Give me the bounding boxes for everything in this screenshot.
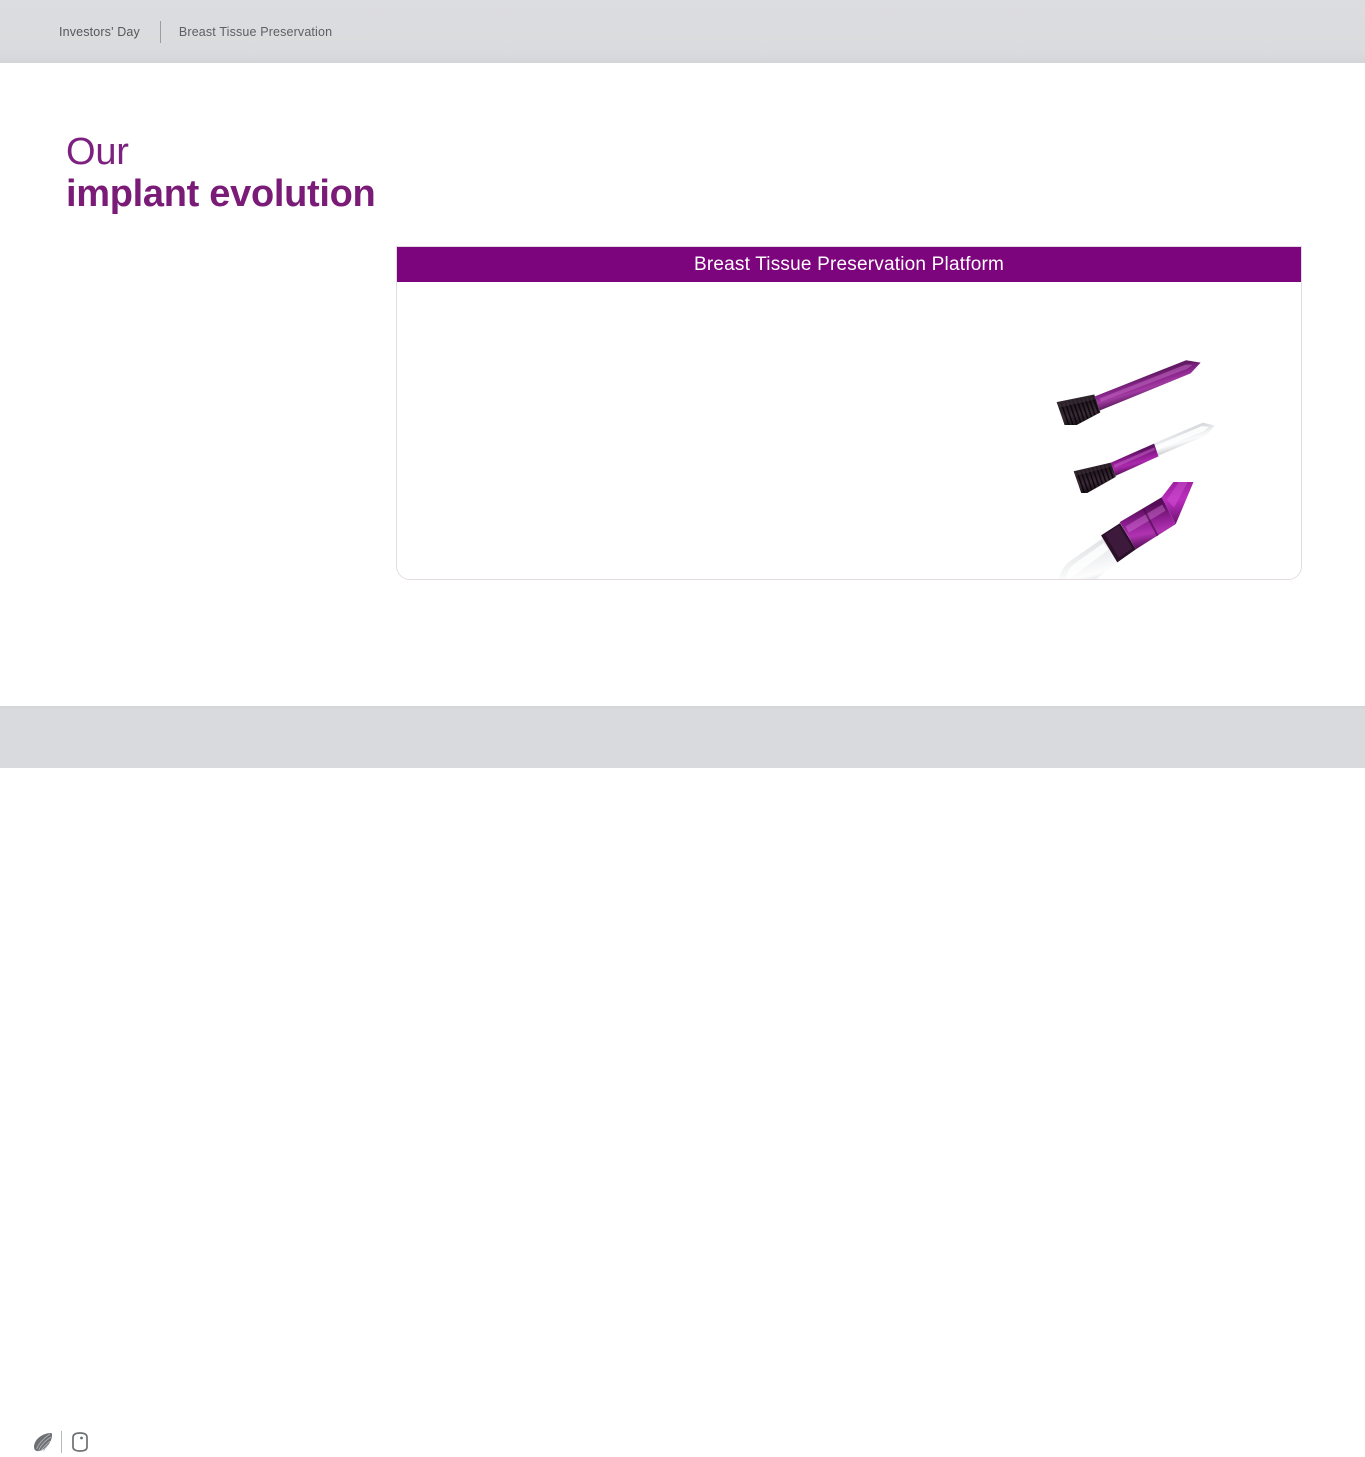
platform-panel-title: Breast Tissue Preservation Platform (694, 254, 1004, 276)
platform-panel: Breast Tissue Preservation Platform (396, 246, 1302, 580)
page-title: Our implant evolution (66, 133, 375, 214)
footer-logos (31, 1427, 92, 1457)
breadcrumb: Investors' Day Breast Tissue Preservatio… (59, 0, 332, 63)
page-title-line-one: Our (66, 133, 375, 173)
footer-logo-divider (61, 1431, 62, 1453)
rounded-square-logo-mark (68, 1430, 92, 1454)
footer-bar (0, 706, 1365, 768)
page-title-line-two: implant evolution (66, 175, 375, 215)
top-breadcrumb-bar: Investors' Day Breast Tissue Preservatio… (0, 0, 1365, 63)
platform-panel-body (397, 282, 1301, 579)
implant-device-third-generation (1045, 482, 1240, 580)
implant-device-second-generation (1065, 413, 1230, 493)
platform-panel-header: Breast Tissue Preservation Platform (397, 247, 1301, 282)
breadcrumb-separator (160, 21, 161, 43)
breadcrumb-item-investors-day[interactable]: Investors' Day (59, 25, 140, 39)
shell-logo-mark (31, 1430, 55, 1454)
breadcrumb-item-breast-tissue-preservation[interactable]: Breast Tissue Preservation (179, 25, 332, 39)
